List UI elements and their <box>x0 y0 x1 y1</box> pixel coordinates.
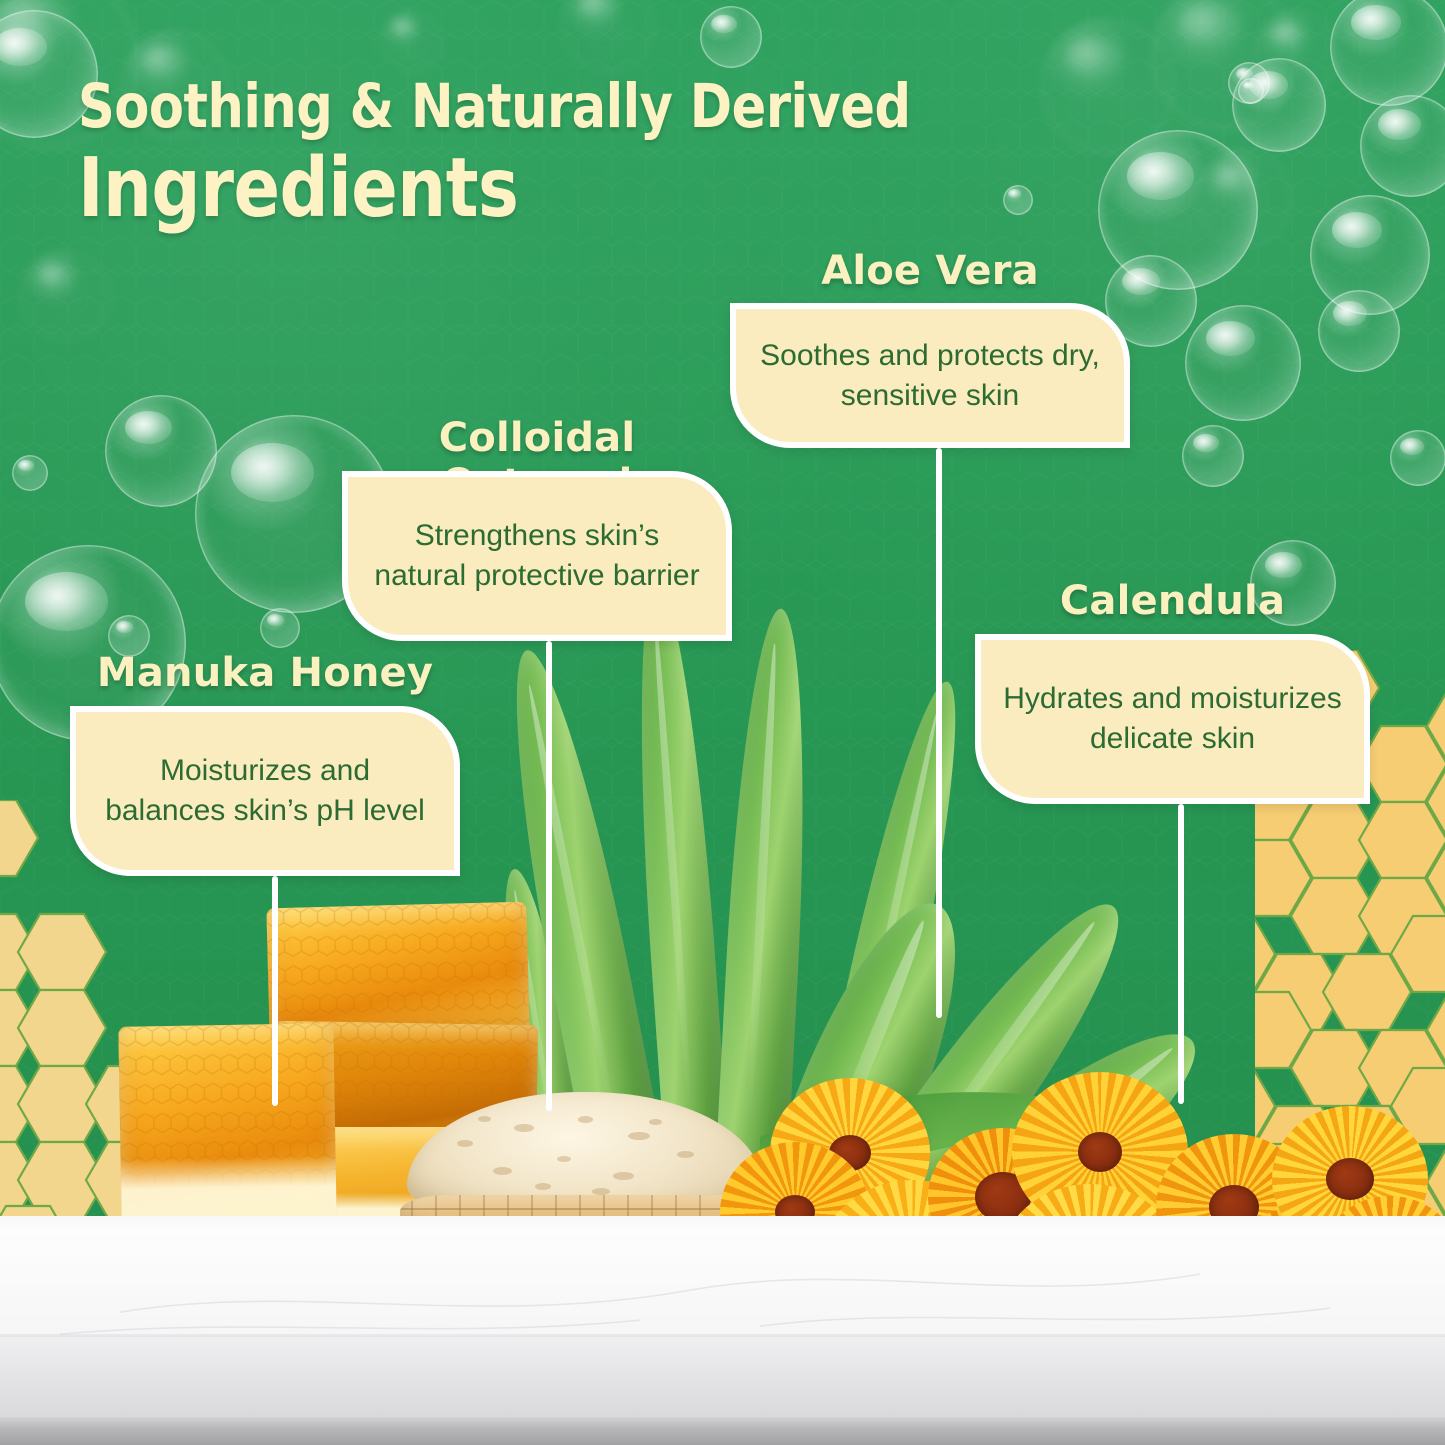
callout-colloidal-oatmeal: Colloidal Oatmeal Strengthens skin’s nat… <box>342 415 732 640</box>
connector-line-colloidal-oatmeal <box>546 641 552 1111</box>
callout-text-aloe-vera: Soothes and protects dry, sensitive skin <box>730 303 1130 448</box>
callout-aloe-vera: Aloe Vera Soothes and protects dry, sens… <box>730 248 1130 448</box>
callout-title-aloe-vera: Aloe Vera <box>730 248 1130 294</box>
callout-title-manuka-honey: Manuka Honey <box>70 650 460 696</box>
callout-calendula: Calendula Hydrates and moisturizes delic… <box>975 578 1370 803</box>
title-line-1: Soothing & Naturally Derived <box>78 76 1008 138</box>
callout-manuka-honey: Manuka Honey Moisturizes and balances sk… <box>70 650 460 875</box>
connector-line-aloe-vera <box>936 448 942 1018</box>
callout-text-colloidal-oatmeal: Strengthens skin’s natural protective ba… <box>342 471 732 641</box>
callout-text-manuka-honey: Moisturizes and balances skin’s pH level <box>70 706 460 876</box>
ingredients-infographic: Soothing & Naturally Derived Ingredients… <box>0 0 1445 1445</box>
callout-text-calendula: Hydrates and moisturizes delicate skin <box>975 634 1370 804</box>
connector-line-manuka-honey <box>272 876 278 1106</box>
connector-line-calendula <box>1178 804 1184 1104</box>
callout-title-calendula: Calendula <box>975 578 1370 624</box>
title-line-2: Ingredients <box>78 146 1008 233</box>
page-title: Soothing & Naturally Derived Ingredients <box>78 76 1078 233</box>
marble-countertop <box>0 1216 1445 1445</box>
